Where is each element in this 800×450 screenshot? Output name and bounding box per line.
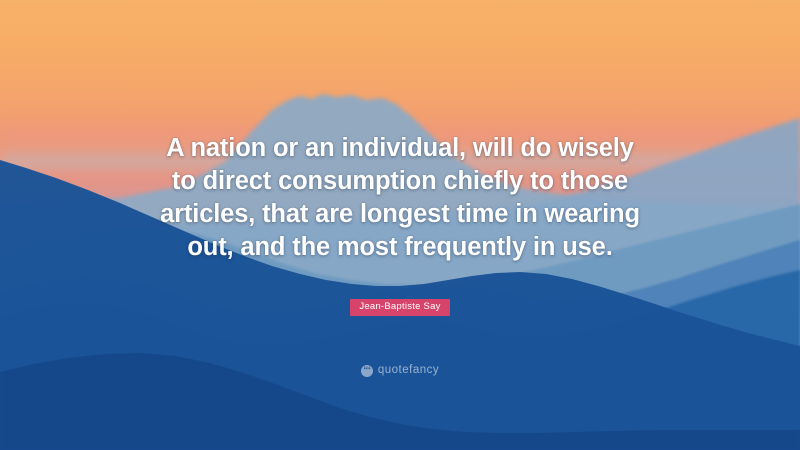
quote-line: articles, that are longest time in weari…	[64, 198, 736, 231]
quote-line: A nation or an individual, will do wisel…	[64, 132, 736, 165]
quote-line: out, and the most frequently in use.	[64, 231, 736, 264]
quote-poster: A nation or an individual, will do wisel…	[0, 0, 800, 450]
quote-line: to direct consumption chiefly to those	[64, 165, 736, 198]
author-name-badge[interactable]: Jean-Baptiste Say	[350, 299, 449, 316]
quote-text: A nation or an individual, will do wisel…	[0, 132, 800, 264]
author-attribution: Jean-Baptiste Say	[0, 296, 800, 316]
quote-mark-glyph: ““	[363, 367, 370, 375]
quote-mark-badge-icon: ““	[361, 365, 373, 377]
watermark-brand-label: quotefancy	[378, 365, 439, 377]
quotefancy-watermark[interactable]: ““ quotefancy	[0, 365, 800, 377]
